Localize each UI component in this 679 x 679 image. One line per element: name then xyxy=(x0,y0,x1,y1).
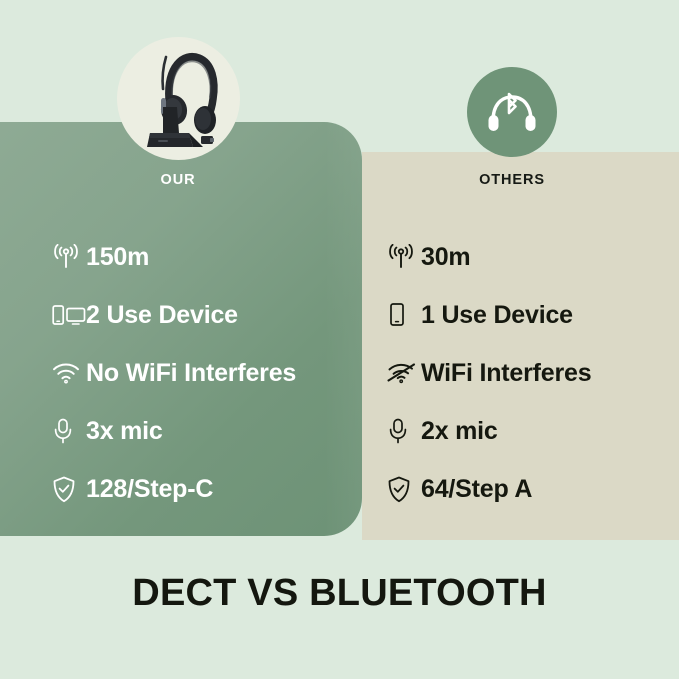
feature-row: WiFi Interferes xyxy=(387,344,591,402)
feature-label: 150m xyxy=(86,243,149,272)
headset-with-charging-stand-icon xyxy=(117,37,240,160)
shield-check-icon xyxy=(387,474,421,504)
our-column-label: OUR xyxy=(118,172,238,188)
feature-row: No WiFi Interferes xyxy=(52,344,296,402)
feature-row: 3x mic xyxy=(52,402,296,460)
feature-row: 150m xyxy=(52,228,296,286)
feature-row: 1 Use Device xyxy=(387,286,591,344)
feature-row: 2 Use Device xyxy=(52,286,296,344)
phone-icon xyxy=(387,300,421,330)
feature-row: 30m xyxy=(387,228,591,286)
feature-row: 64/Step A xyxy=(387,460,591,518)
feature-label: 2 Use Device xyxy=(86,301,238,330)
feature-label: 128/Step-C xyxy=(86,475,213,504)
feature-label: 3x mic xyxy=(86,417,163,446)
feature-label: WiFi Interferes xyxy=(421,359,591,388)
feature-label: 30m xyxy=(421,243,470,272)
wifi-off-icon xyxy=(387,358,421,388)
our-product-badge xyxy=(117,37,240,160)
feature-row: 2x mic xyxy=(387,402,591,460)
feature-label: 2x mic xyxy=(421,417,498,446)
feature-label: 1 Use Device xyxy=(421,301,573,330)
feature-label: No WiFi Interferes xyxy=(86,359,296,388)
bluetooth-headphones-icon xyxy=(485,90,539,134)
microphone-icon xyxy=(52,416,86,446)
microphone-icon xyxy=(387,416,421,446)
feature-label: 64/Step A xyxy=(421,475,532,504)
antenna-signal-icon xyxy=(52,242,86,272)
wifi-icon xyxy=(52,358,86,388)
shield-check-icon xyxy=(52,474,86,504)
page-title: DECT VS BLUETOOTH xyxy=(0,572,679,615)
comparison-infographic: OUR OTHERS 150m xyxy=(0,0,679,679)
phone-and-monitor-icon xyxy=(52,300,86,330)
others-feature-list: 30m 1 Use Device WiFi Int xyxy=(387,228,591,518)
our-feature-list: 150m 2 Use Device xyxy=(52,228,296,518)
feature-row: 128/Step-C xyxy=(52,460,296,518)
others-product-badge xyxy=(467,67,557,157)
others-column-label: OTHERS xyxy=(452,172,572,188)
antenna-signal-icon xyxy=(387,242,421,272)
